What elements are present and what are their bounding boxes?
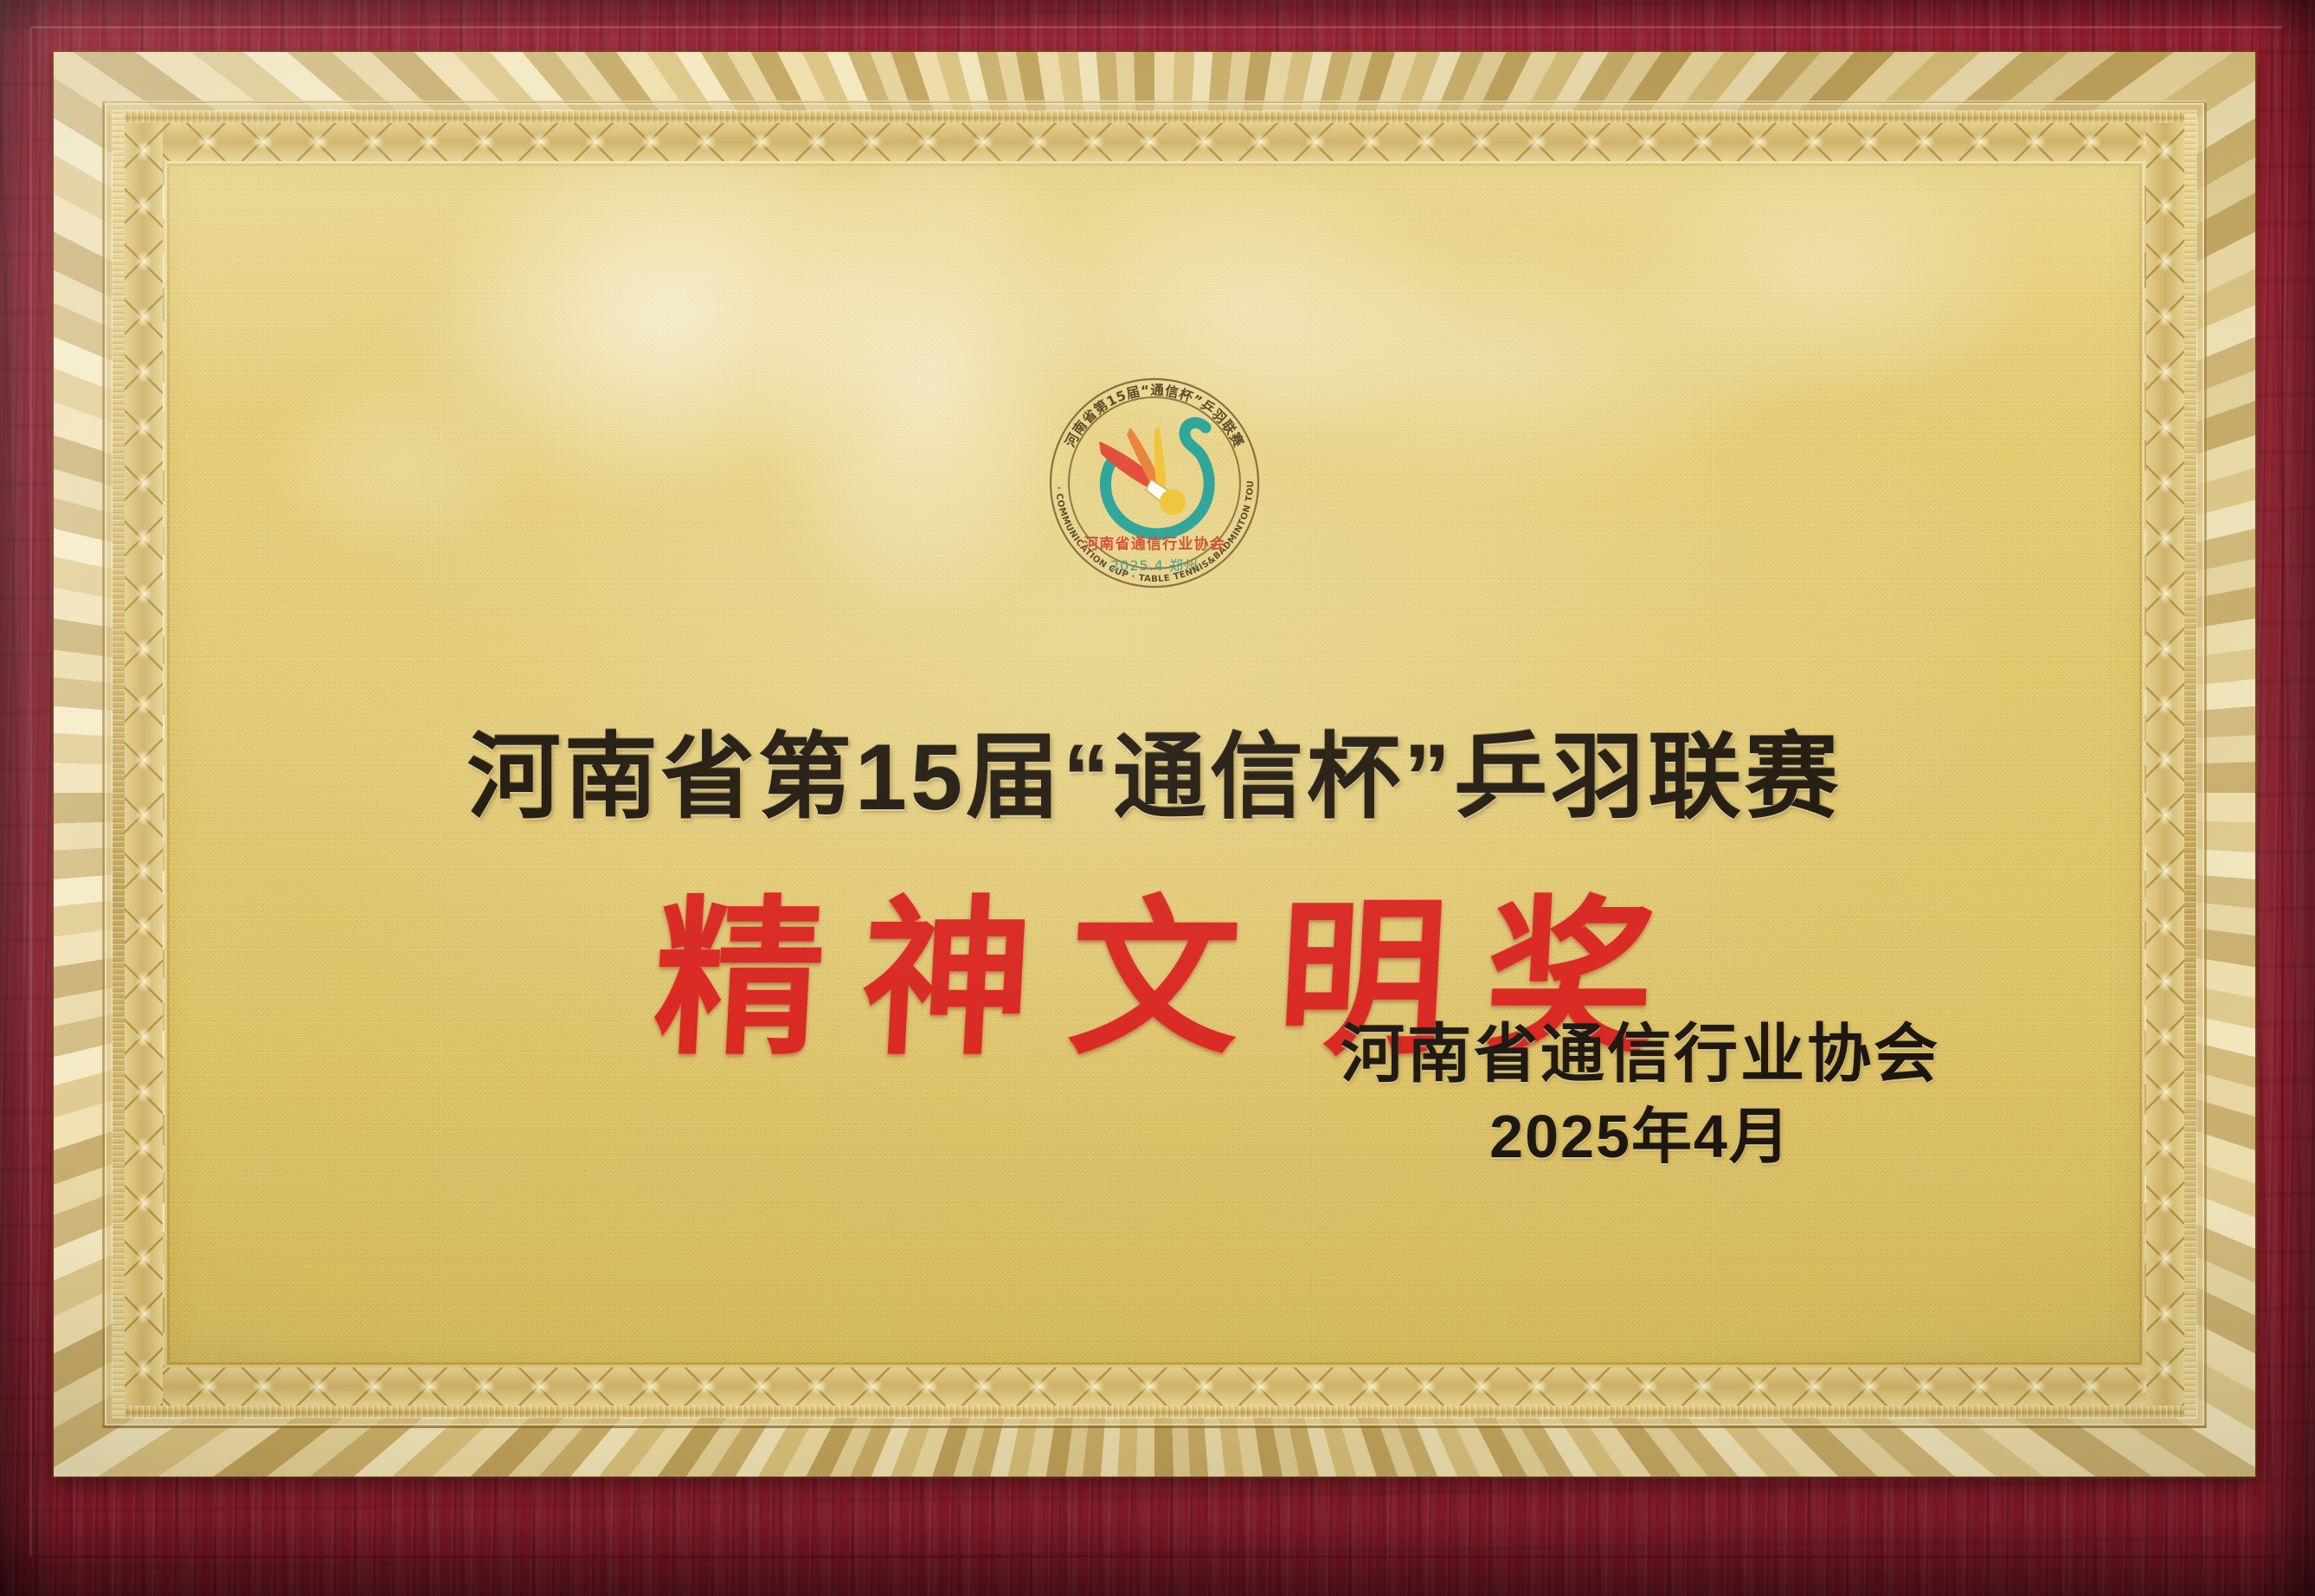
emblem-date-city-text: 2025.4 郑州 xyxy=(1110,557,1199,574)
ornament-diamonds-right xyxy=(2146,123,2184,1406)
ornament-band-top xyxy=(113,111,2196,123)
ornament-band-left xyxy=(113,111,125,1418)
issuing-organization: 河南省通信行业协会 xyxy=(1341,1019,1940,1091)
emblem-org-text: 河南省通信行业协会 xyxy=(1084,535,1225,553)
tournament-title: 河南省第15届“通信杯”乒羽联赛 xyxy=(164,727,2145,828)
signature-block: 河南省通信行业协会 2025年4月 xyxy=(1341,1019,1940,1170)
tournament-emblem-logo: 河南省第15届“通信杯”乒羽联赛 THE 15 TH · COMMUNICATI… xyxy=(1045,374,1264,592)
ornament-band-bottom xyxy=(113,1406,2196,1418)
award-plaque: 河南省第15届“通信杯”乒羽联赛 THE 15 TH · COMMUNICATI… xyxy=(0,0,2315,1596)
inner-panel: 河南省第15届“通信杯”乒羽联赛 THE 15 TH · COMMUNICATI… xyxy=(164,161,2145,1368)
emblem-ball xyxy=(1160,489,1186,515)
ornament-band-right xyxy=(2184,111,2196,1418)
gold-plate: 河南省第15届“通信杯”乒羽联赛 THE 15 TH · COMMUNICATI… xyxy=(54,52,2255,1477)
ornament-diamonds-bottom xyxy=(125,1368,2184,1406)
issue-date: 2025年4月 xyxy=(1341,1103,1940,1170)
ornament-diamonds-top xyxy=(125,123,2184,161)
ornament-diamonds-left xyxy=(125,123,163,1406)
